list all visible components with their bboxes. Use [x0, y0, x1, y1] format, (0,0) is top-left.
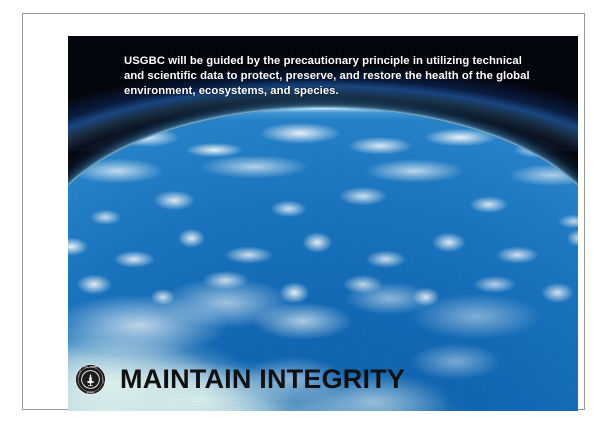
- usgbc-seal-icon: U.S. GREEN USGBC BUILDING COUNCIL: [75, 364, 106, 395]
- slide-frame-border: USGBC will be guided by the precautionar…: [22, 13, 585, 410]
- svg-text:USGBC: USGBC: [87, 392, 95, 394]
- svg-text:U.S. GREEN: U.S. GREEN: [84, 367, 97, 369]
- slide-title: MAINTAIN INTEGRITY: [120, 366, 405, 393]
- slide-body-text: USGBC will be guided by the precautionar…: [124, 54, 544, 100]
- page-canvas: USGBC will be guided by the precautionar…: [0, 0, 600, 424]
- slide-title-row: U.S. GREEN USGBC BUILDING COUNCIL MAINTA…: [75, 364, 405, 395]
- slide-image: USGBC will be guided by the precautionar…: [68, 36, 578, 411]
